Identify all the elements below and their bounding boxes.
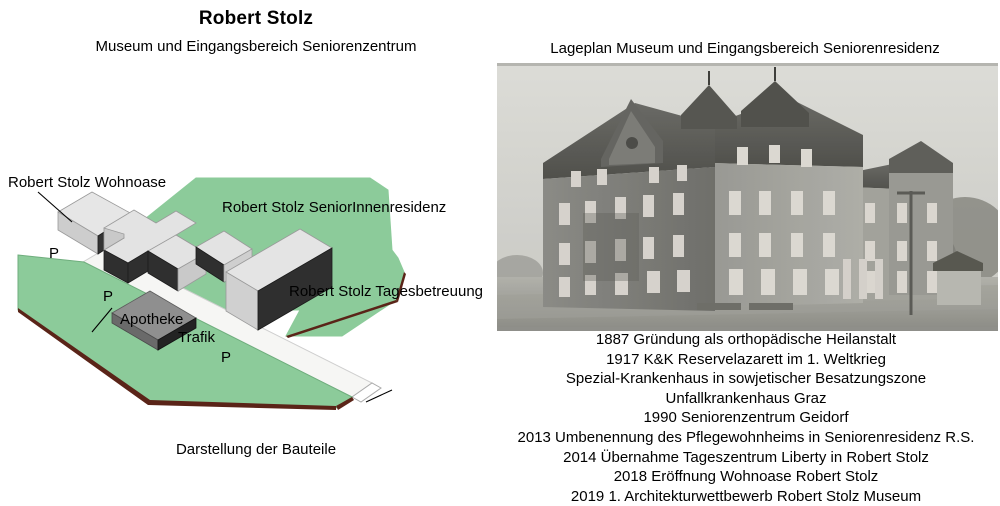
page-title: Robert Stolz (0, 8, 512, 30)
history-item: Spezial-Krankenhaus in sowjetischer Besa… (492, 369, 1000, 389)
parking-marker-p-lower-right: P (221, 349, 231, 366)
plan-label-wohnoase: Robert Stolz Wohnoase (8, 174, 166, 191)
plan-label-trafik: Trafik (178, 329, 215, 346)
plan-label-tagesbetreuung: Robert Stolz Tagesbetreuung (289, 283, 483, 300)
historic-building-photo (497, 63, 998, 331)
photo-edge-top (497, 63, 998, 66)
plan-label-seniorinnenresidenz: Robert Stolz SeniorInnenresidenz (222, 199, 446, 216)
history-item: 1990 Seniorenzentrum Geidorf (492, 408, 1000, 428)
plan-label-apotheke: Apotheke (120, 311, 183, 328)
parking-marker-p-upper-left: P (49, 245, 59, 262)
plan-caption: Darstellung der Bauteile (0, 441, 512, 458)
history-item: 2013 Umbenennung des Pflegewohnheims in … (492, 428, 1000, 448)
history-item: 2019 1. Architekturwettbewerb Robert Sto… (492, 487, 1000, 506)
history-item: 1887 Gründung als orthopädische Heilanst… (492, 330, 1000, 350)
site-plan-heading: Lageplan Museum und Eingangsbereich Seni… (490, 40, 1000, 57)
photo-grain-overlay (497, 63, 998, 331)
history-item: 1917 K&K Reservelazarett im 1. Weltkrieg (492, 350, 1000, 370)
history-list: 1887 Gründung als orthopädische Heilanst… (492, 330, 1000, 506)
history-item: 2014 Übernahme Tageszentrum Liberty in R… (492, 448, 1000, 468)
history-item: 2018 Eröffnung Wohnoase Robert Stolz (492, 467, 1000, 487)
history-item: Unfallkrankenhaus Graz (492, 389, 1000, 409)
parking-marker-p-middle: P (103, 288, 113, 305)
page-subtitle: Museum und Eingangsbereich Seniorenzentr… (0, 38, 512, 55)
